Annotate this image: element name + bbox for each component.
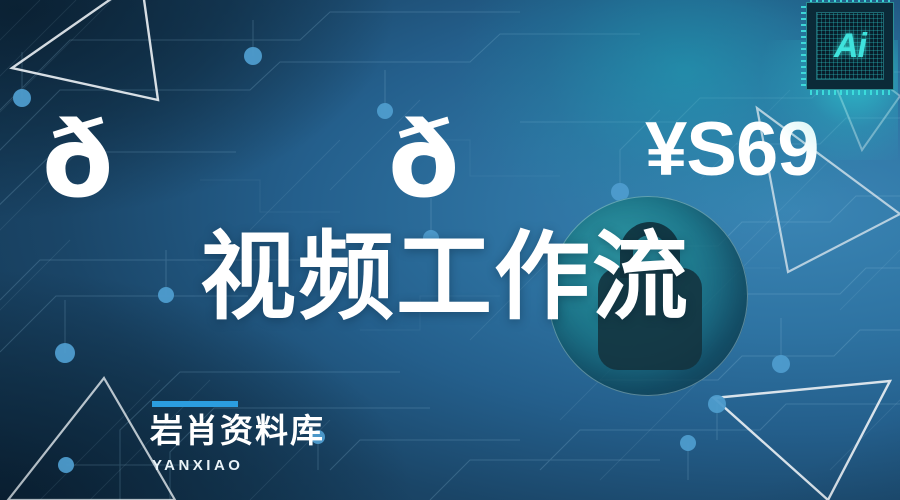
- brand-name-en: YANXIAO: [152, 457, 243, 474]
- decorative-glyph-middle: ð: [388, 108, 459, 212]
- decorative-glyph-left: ð: [42, 108, 113, 212]
- price-text: ¥S69: [645, 112, 819, 188]
- ai-chip-label: Ai: [817, 13, 883, 79]
- ai-chip-icon: Ai: [806, 2, 894, 90]
- ai-chip-core: Ai: [816, 12, 884, 80]
- page-title: 视频工作流: [200, 227, 690, 328]
- brand-accent-bar: [152, 401, 238, 407]
- brand-name-cn: 岩肖资料库: [150, 410, 325, 451]
- ai-chip-frame: Ai: [806, 2, 894, 90]
- banner-canvas: ð ð ¥S69 视频工作流 岩肖资料库 YANXIAO Ai: [0, 0, 900, 500]
